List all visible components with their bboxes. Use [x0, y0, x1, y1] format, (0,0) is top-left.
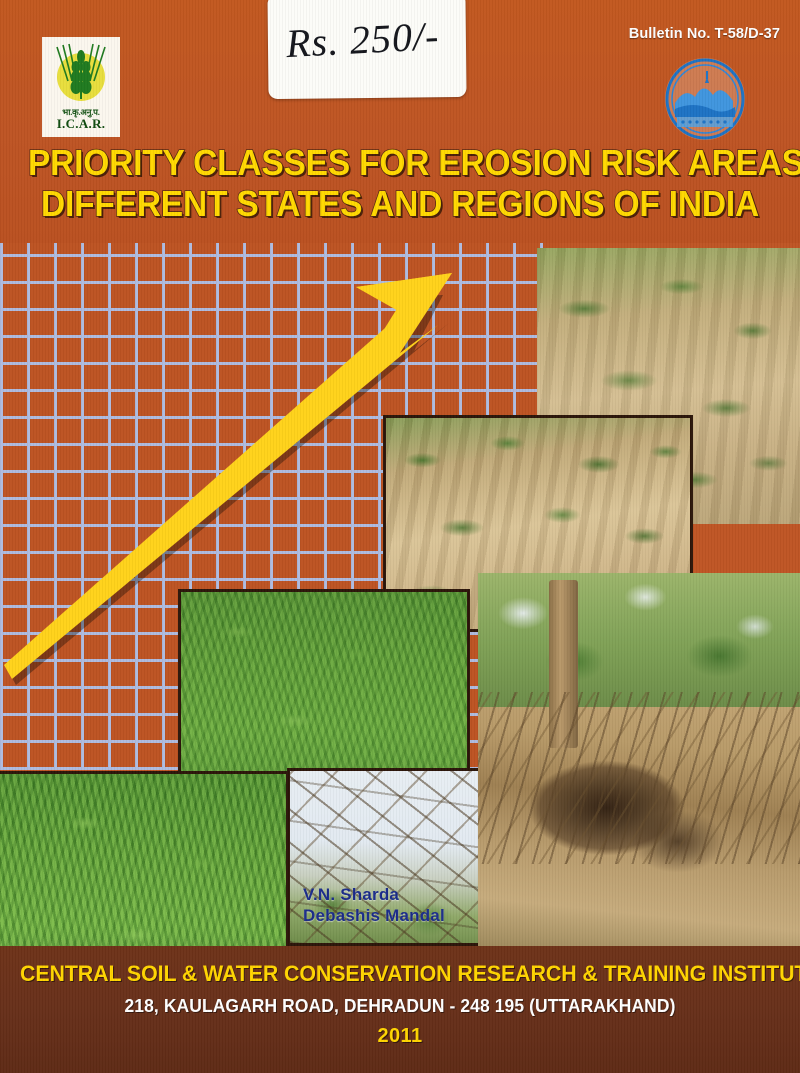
icar-english-label: I.C.A.R. — [57, 117, 106, 131]
institute-name: CENTRAL SOIL & WATER CONSERVATION RESEAR… — [20, 961, 780, 987]
tree-canopy-layer — [478, 573, 800, 707]
author-block: V.N. Sharda Debashis Mandal — [303, 884, 445, 926]
exposed-roots-layer — [478, 692, 800, 864]
cover-footer: CENTRAL SOIL & WATER CONSERVATION RESEAR… — [0, 946, 800, 1073]
publication-year: 2011 — [0, 1025, 800, 1048]
price-sticker: Rs. 250/- — [267, 0, 466, 99]
book-cover: भा.कृ.अनु.प. I.C.A.R. Rs. 250/- Bulletin… — [0, 0, 800, 1073]
icar-logo: भा.कृ.अनु.प. I.C.A.R. — [42, 37, 120, 137]
author-name-2: Debashis Mandal — [303, 905, 445, 926]
author-name-1: V.N. Sharda — [303, 884, 445, 905]
photo-lush-green-grass — [0, 771, 289, 946]
wheat-sheaf-icon — [48, 41, 114, 107]
price-value: Rs. 250/- — [285, 12, 441, 67]
cover-title: PRIORITY CLASSES FOR EROSION RISK AREAS … — [0, 142, 800, 224]
photo-collage — [0, 243, 800, 946]
cswcrti-emblem-icon — [663, 57, 747, 141]
photo-4-image — [0, 774, 286, 946]
photo-5-image — [478, 573, 800, 946]
bulletin-number: Bulletin No. T-58/D-37 — [629, 26, 780, 42]
institute-address: 218, KAULAGARH ROAD, DEHRADUN - 248 195 … — [12, 996, 788, 1017]
title-line-2: DIFFERENT STATES AND REGIONS OF INDIA — [28, 183, 772, 224]
photo-riverbank-erosion — [478, 573, 800, 946]
title-line-1: PRIORITY CLASSES FOR EROSION RISK AREAS … — [28, 142, 772, 183]
